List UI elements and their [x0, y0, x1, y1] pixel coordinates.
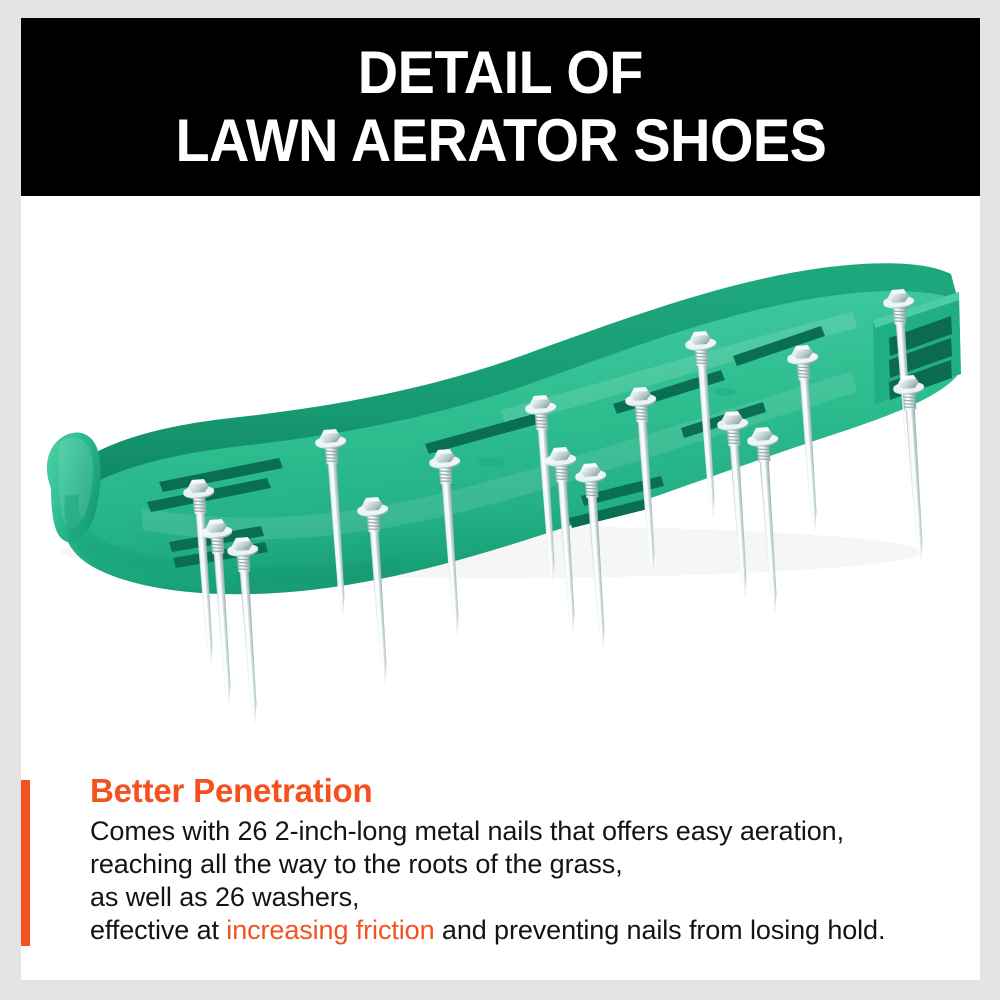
banner-title-line-2: LAWN AERATOR SHOES — [175, 111, 826, 171]
content-card: DETAIL OF LAWN AERATOR SHOES — [21, 18, 980, 980]
caption-line-4: effective at increasing friction and pre… — [90, 914, 960, 947]
caption-line-1-text: Comes with 26 2-inch-long metal nails th… — [90, 816, 844, 846]
caption-line-1: Comes with 26 2-inch-long metal nails th… — [90, 815, 960, 848]
caption-line-3: as well as 26 washers, — [90, 881, 960, 914]
product-infographic-page: DETAIL OF LAWN AERATOR SHOES — [0, 0, 1000, 1000]
caption-line-2-text: reaching all the way to the roots of the… — [90, 849, 623, 879]
product-photo — [21, 196, 980, 748]
accent-bar — [21, 780, 30, 946]
aerator-shoe-illustration — [21, 196, 980, 748]
caption-block: Better Penetration Comes with 26 2-inch-… — [21, 748, 980, 980]
caption-text: Better Penetration Comes with 26 2-inch-… — [90, 772, 960, 947]
caption-heading: Better Penetration — [90, 772, 960, 810]
caption-line-2: reaching all the way to the roots of the… — [90, 848, 960, 881]
caption-line-3-text: as well as 26 washers, — [90, 882, 359, 912]
title-banner: DETAIL OF LAWN AERATOR SHOES — [21, 18, 980, 196]
banner-title-line-1: DETAIL OF — [358, 43, 643, 103]
caption-line-4-text-after: and preventing nails from losing hold. — [435, 915, 886, 945]
caption-line-4-highlight: increasing friction — [226, 915, 434, 945]
caption-line-4-text-before: effective at — [90, 915, 226, 945]
